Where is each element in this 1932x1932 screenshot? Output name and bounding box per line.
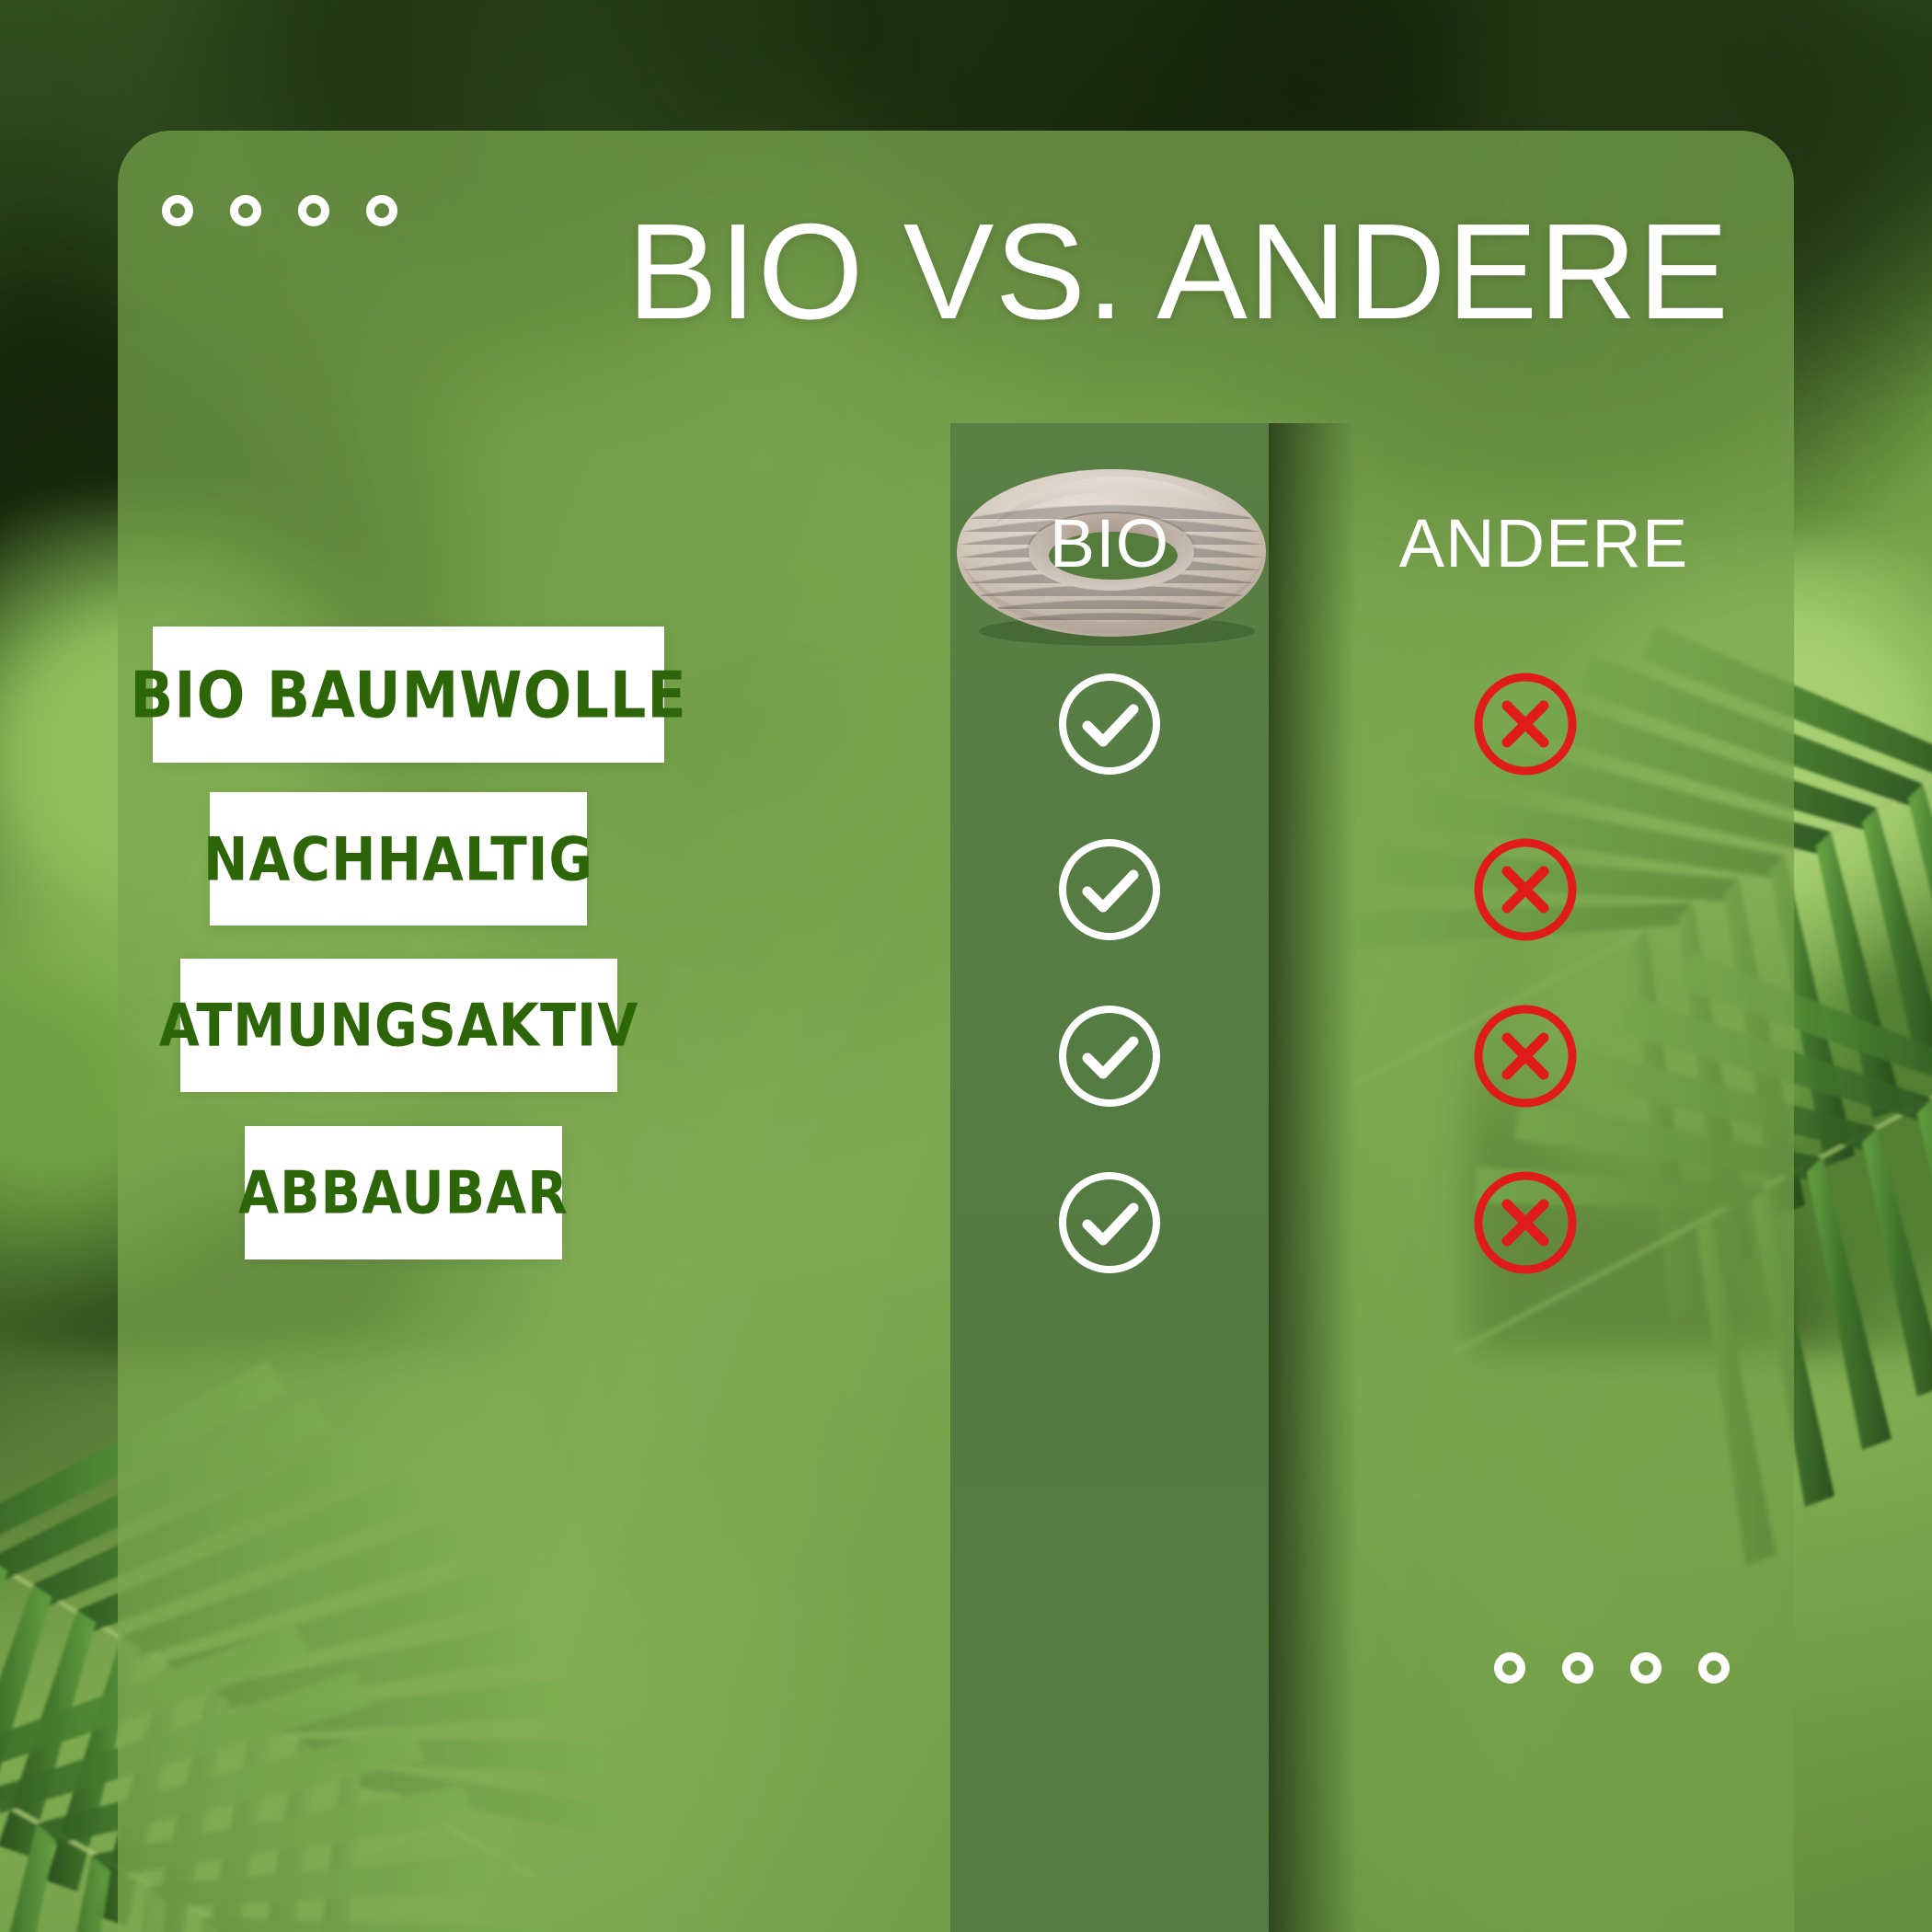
dot-icon — [162, 195, 193, 226]
feature-label-text: NACHHALTIG — [203, 823, 593, 893]
status-cell-andere-row-2 — [1470, 1001, 1581, 1111]
dot-icon — [298, 195, 329, 226]
decorative-dots-bottom — [1494, 1652, 1730, 1684]
feature-label-text: BIO BAUMWOLLE — [130, 657, 686, 732]
feature-label-chip: NACHHALTIG — [210, 792, 587, 926]
feature-label-text: ATMUNGSAKTIV — [159, 992, 639, 1060]
feature-label-chip: ABBAUBAR — [245, 1126, 562, 1259]
feature-label-text: ABBAUBAR — [238, 1159, 569, 1227]
status-cell-andere-row-0 — [1470, 669, 1581, 779]
status-cell-bio-row-2 — [1054, 1001, 1165, 1111]
x-circle-icon — [1470, 834, 1581, 945]
status-cell-bio-row-0 — [1054, 669, 1165, 779]
status-cell-bio-row-1 — [1054, 834, 1165, 945]
comparison-card: BIO VS. ANDERE — [118, 131, 1794, 1932]
check-circle-icon — [1054, 1001, 1165, 1111]
decorative-dots-top — [162, 195, 397, 226]
dot-icon — [1630, 1652, 1662, 1684]
x-circle-icon — [1470, 1001, 1581, 1111]
check-circle-icon — [1054, 669, 1165, 779]
column-header-andere: ANDERE — [1314, 510, 1774, 578]
page-title: BIO VS. ANDERE — [627, 204, 1730, 340]
bio-column-shadow — [1269, 423, 1357, 1932]
feature-label-chip: ATMUNGSAKTIV — [180, 959, 617, 1092]
check-circle-icon — [1054, 834, 1165, 945]
dot-icon — [1494, 1652, 1525, 1684]
status-cell-andere-row-3 — [1470, 1167, 1581, 1278]
dot-icon — [1698, 1652, 1730, 1684]
dot-icon — [230, 195, 261, 226]
column-header-bio: BIO — [950, 510, 1269, 578]
status-cell-bio-row-3 — [1054, 1167, 1165, 1278]
dot-icon — [366, 195, 397, 226]
dot-icon — [1562, 1652, 1593, 1684]
x-circle-icon — [1470, 1167, 1581, 1278]
feature-label-chip: BIO BAUMWOLLE — [153, 627, 664, 763]
status-cell-andere-row-1 — [1470, 834, 1581, 945]
x-circle-icon — [1470, 669, 1581, 779]
check-circle-icon — [1054, 1167, 1165, 1278]
